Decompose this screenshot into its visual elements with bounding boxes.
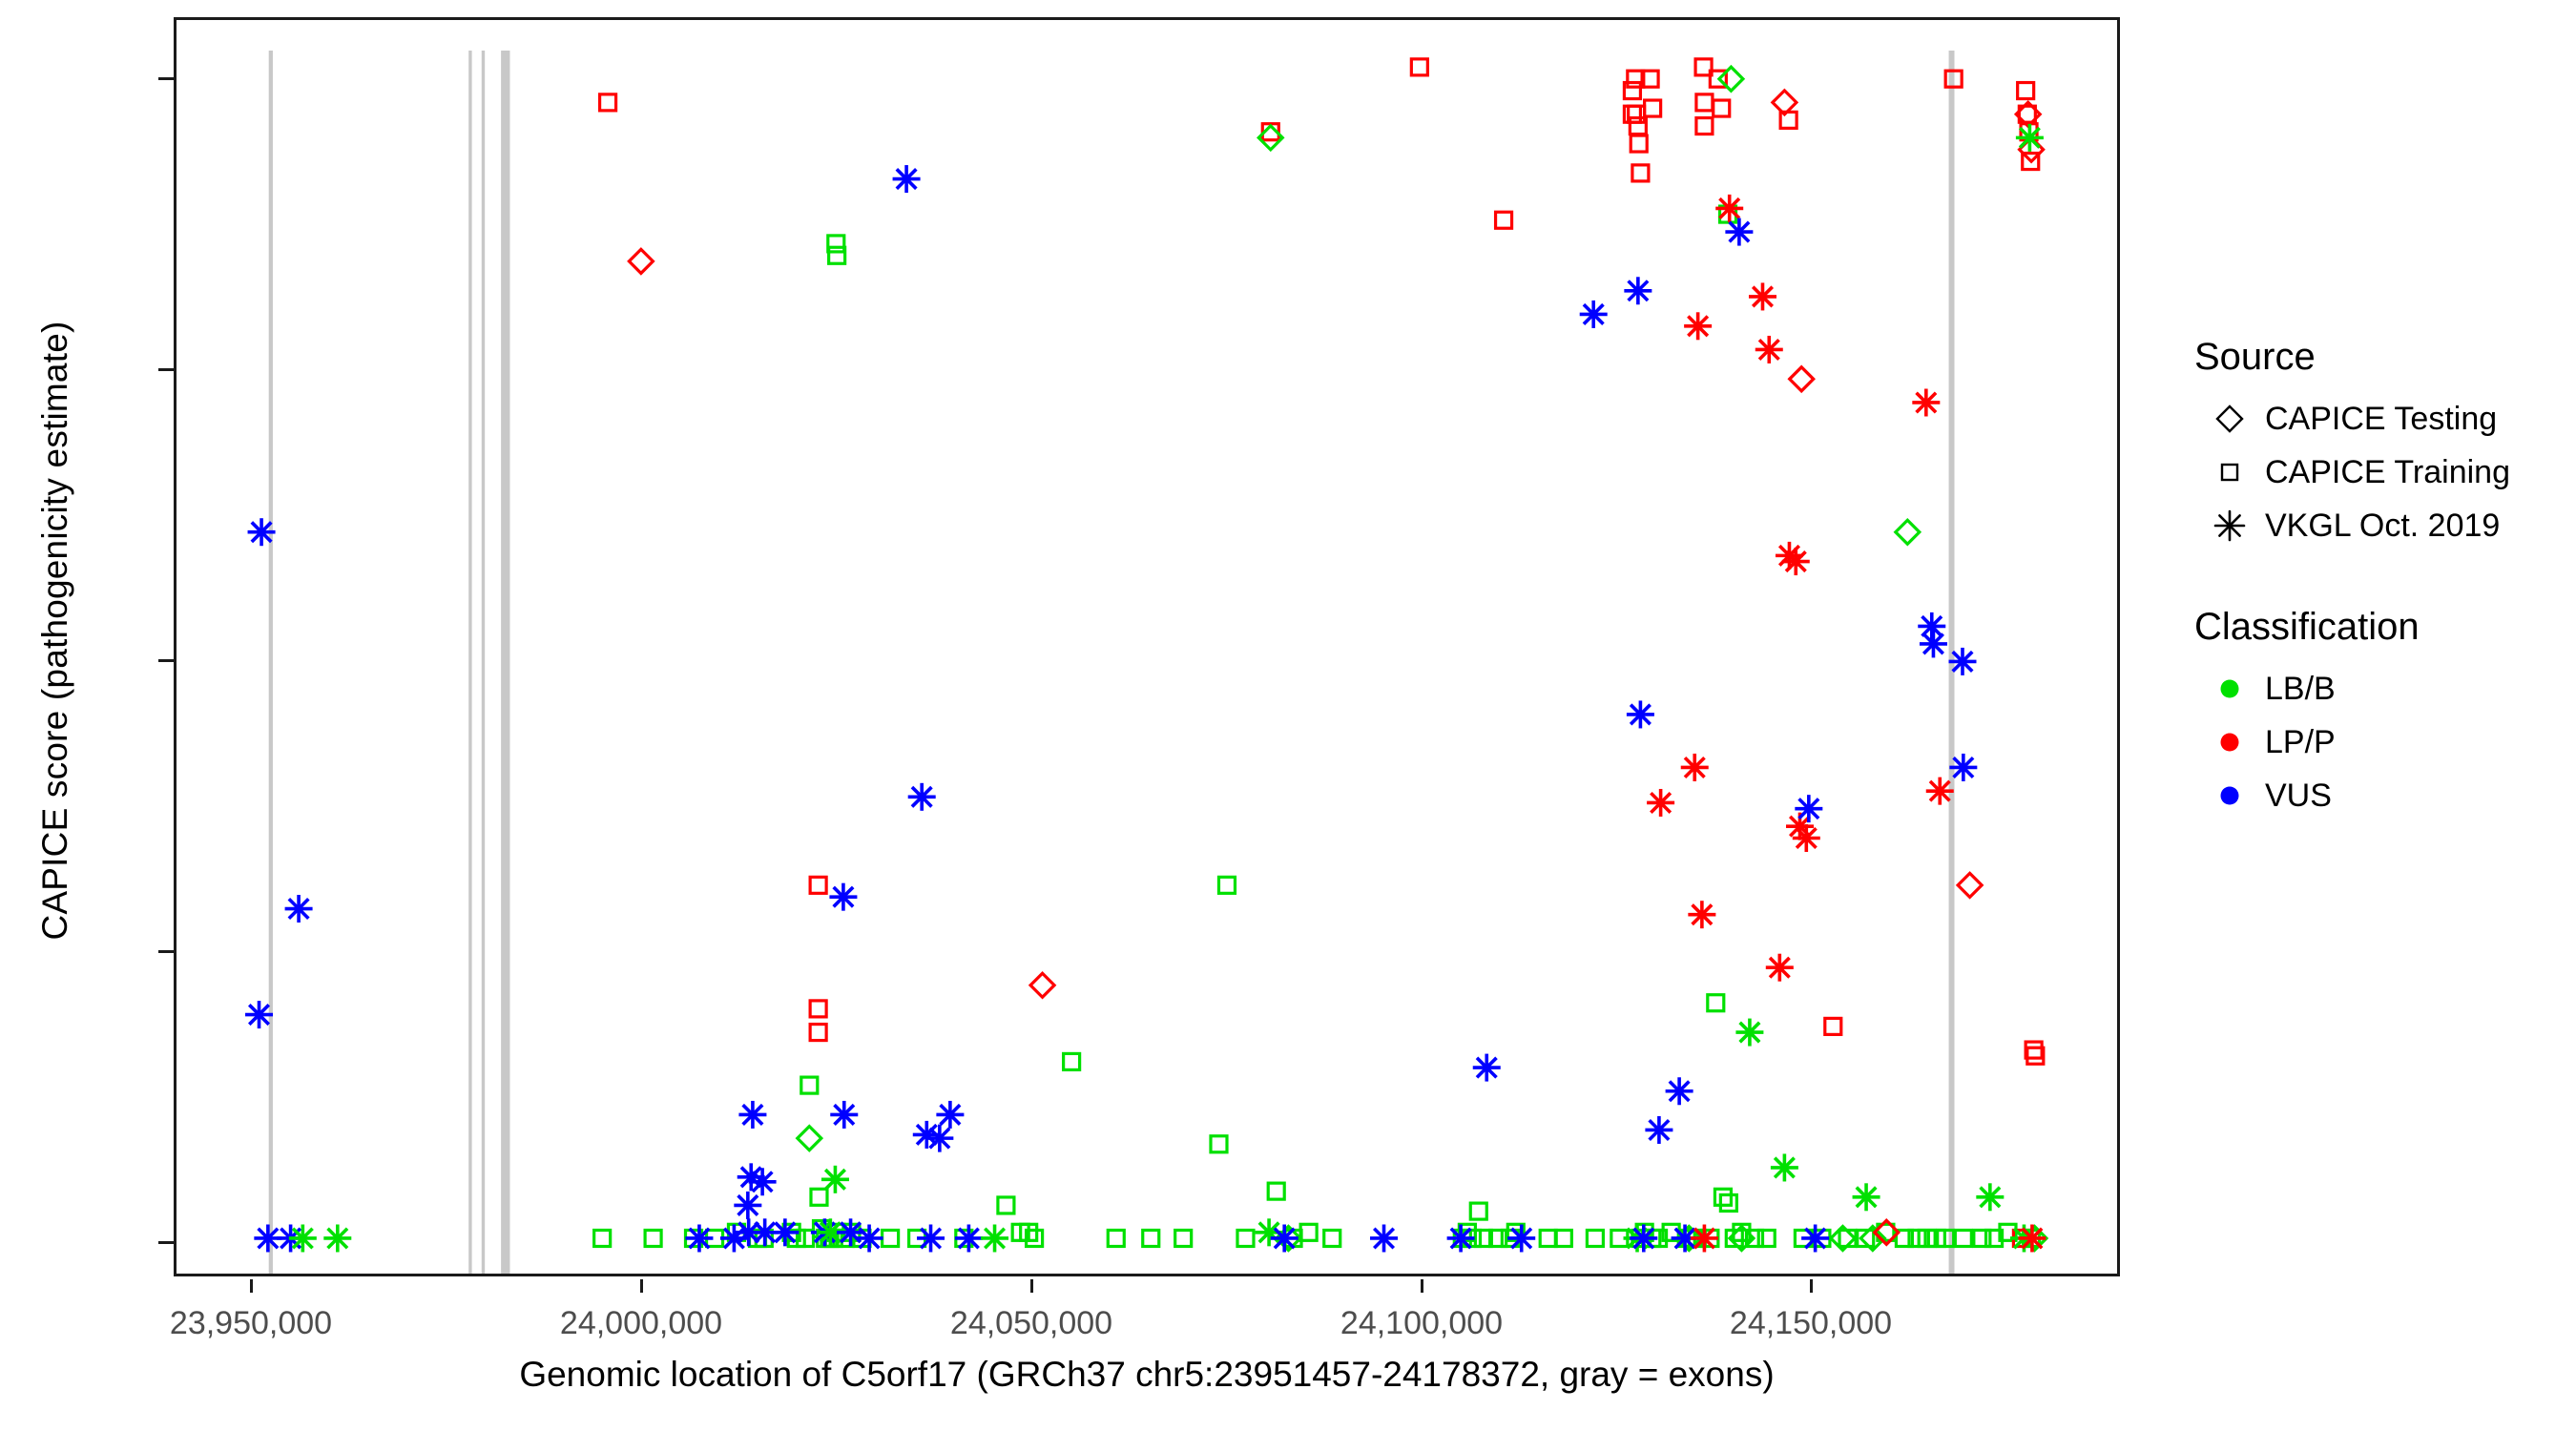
data-point-asterisk-5 bbox=[289, 1224, 317, 1252]
data-point-square-107 bbox=[2018, 83, 2034, 99]
data-point-square-26 bbox=[883, 1230, 899, 1246]
data-point-asterisk-38 bbox=[1624, 277, 1652, 304]
legend-label-lbb: LB/B bbox=[2265, 671, 2336, 708]
data-point-square-49 bbox=[1470, 1203, 1486, 1219]
legend-classification-title: Classification bbox=[2194, 606, 2576, 649]
legend-item-vus[interactable]: VUS bbox=[2194, 769, 2576, 822]
data-point-asterisk-68 bbox=[1948, 648, 1976, 675]
data-point-asterisk-46 bbox=[1681, 754, 1709, 781]
data-point-asterisk-42 bbox=[1645, 1116, 1672, 1144]
data-point-asterisk-64 bbox=[1912, 388, 1940, 416]
x-tick-label-4: 24,150,000 bbox=[1668, 1305, 1954, 1342]
diamond-icon bbox=[2194, 392, 2265, 446]
legend-item-lbb[interactable]: LB/B bbox=[2194, 662, 2576, 715]
data-point-asterisk-2 bbox=[285, 895, 313, 923]
y-tick-mark-0 bbox=[158, 1241, 174, 1244]
data-point-asterisk-24 bbox=[908, 783, 936, 811]
data-point-square-76 bbox=[1696, 94, 1713, 111]
legend-label-lpp: LP/P bbox=[2265, 724, 2336, 761]
data-point-square-2 bbox=[645, 1230, 661, 1246]
data-point-asterisk-55 bbox=[1766, 954, 1794, 982]
data-point-asterisk-61 bbox=[1795, 795, 1822, 822]
x-tick-label-0: 23,950,000 bbox=[108, 1305, 394, 1342]
data-point-square-37 bbox=[1211, 1136, 1227, 1152]
data-point-asterisk-44 bbox=[1666, 1077, 1693, 1105]
data-point-asterisk-69 bbox=[1949, 754, 1977, 781]
exon-band-0 bbox=[269, 51, 273, 1274]
data-point-asterisk-43 bbox=[1647, 789, 1674, 817]
data-point-asterisk-54 bbox=[1755, 336, 1783, 363]
data-point-square-11 bbox=[801, 1077, 818, 1093]
data-point-square-14 bbox=[810, 1025, 826, 1041]
data-point-square-88 bbox=[1758, 1230, 1775, 1246]
data-point-square-70 bbox=[1645, 100, 1661, 116]
data-point-square-82 bbox=[1714, 1189, 1731, 1205]
data-point-diamond-9 bbox=[1790, 367, 1814, 391]
legend-item-capice-training[interactable]: CAPICE Training bbox=[2194, 446, 2576, 499]
data-point-square-79 bbox=[1708, 995, 1724, 1011]
plot-panel bbox=[174, 17, 2120, 1276]
data-point-asterisk-19 bbox=[829, 883, 857, 911]
data-point-asterisk-56 bbox=[1771, 1153, 1798, 1181]
data-point-asterisk-33 bbox=[1370, 1224, 1398, 1252]
legend-classification: Classification LB/B LP/P VUS bbox=[2194, 606, 2576, 822]
data-point-square-56 bbox=[1555, 1230, 1571, 1246]
data-point-asterisk-18 bbox=[821, 1166, 849, 1193]
data-point-asterisk-70 bbox=[1976, 1183, 2004, 1211]
exon-band-1 bbox=[468, 51, 471, 1274]
circle-green-icon bbox=[2194, 662, 2265, 715]
data-point-asterisk-53 bbox=[1749, 282, 1776, 310]
x-tick-label-1: 24,000,000 bbox=[498, 1305, 784, 1342]
data-point-asterisk-52 bbox=[1735, 1019, 1763, 1047]
data-point-asterisk-9 bbox=[738, 1101, 766, 1129]
data-point-asterisk-20 bbox=[830, 1101, 858, 1129]
data-point-square-44 bbox=[1324, 1230, 1340, 1246]
x-tick-label-3: 24,100,000 bbox=[1278, 1305, 1565, 1342]
data-point-square-43 bbox=[1300, 1224, 1317, 1240]
data-point-asterisk-15 bbox=[771, 1218, 799, 1246]
legend-source: Source CAPICE Testing CAPICE Training bbox=[2194, 336, 2576, 552]
data-point-asterisk-14 bbox=[749, 1168, 777, 1195]
data-point-asterisk-34 bbox=[1447, 1224, 1475, 1252]
data-point-asterisk-67 bbox=[1926, 778, 1954, 805]
data-point-asterisk-41 bbox=[1630, 1224, 1657, 1252]
x-tick-label-2: 24,050,000 bbox=[888, 1305, 1174, 1342]
data-point-square-39 bbox=[1237, 1230, 1254, 1246]
y-axis-label: CAPICE score (pathogenicity estimate) bbox=[35, 10, 75, 1251]
data-point-asterisk-73 bbox=[2018, 1224, 2046, 1252]
asterisk-icon bbox=[2194, 499, 2265, 552]
data-point-square-64 bbox=[1631, 135, 1647, 152]
legend-label-vus: VUS bbox=[2265, 778, 2332, 815]
x-tick-mark-0 bbox=[250, 1279, 253, 1293]
data-point-asterisk-28 bbox=[936, 1101, 964, 1129]
x-tick-mark-2 bbox=[1030, 1279, 1033, 1293]
data-point-square-84 bbox=[1720, 1194, 1736, 1211]
y-tick-mark-1 bbox=[158, 950, 174, 953]
y-tick-mark-4 bbox=[158, 77, 174, 80]
data-point-asterisk-0 bbox=[248, 518, 276, 546]
data-point-asterisk-50 bbox=[1715, 195, 1743, 222]
data-point-asterisk-48 bbox=[1688, 901, 1715, 928]
data-point-diamond-13 bbox=[1896, 520, 1920, 544]
square-icon bbox=[2194, 446, 2265, 499]
exon-band-3 bbox=[501, 51, 509, 1274]
data-point-diamond-1 bbox=[798, 1127, 821, 1151]
data-point-diamond-0 bbox=[629, 249, 653, 273]
data-point-asterisk-51 bbox=[1725, 218, 1753, 246]
y-tick-mark-2 bbox=[158, 659, 174, 662]
legend-label-capice-testing: CAPICE Testing bbox=[2265, 401, 2497, 438]
legend-item-lpp[interactable]: LP/P bbox=[2194, 715, 2576, 769]
data-point-asterisk-58 bbox=[1782, 548, 1810, 575]
data-point-asterisk-62 bbox=[1801, 1224, 1829, 1252]
data-point-asterisk-63 bbox=[1853, 1183, 1880, 1211]
data-point-asterisk-29 bbox=[955, 1224, 983, 1252]
x-tick-mark-3 bbox=[1421, 1279, 1423, 1293]
scatter-plot-canvas bbox=[177, 20, 2117, 1274]
data-point-square-98 bbox=[1919, 1230, 1935, 1246]
data-point-square-103 bbox=[1974, 1230, 1990, 1246]
data-point-asterisk-35 bbox=[1473, 1054, 1501, 1082]
data-point-square-21 bbox=[828, 236, 844, 252]
circle-red-icon bbox=[2194, 715, 2265, 769]
data-point-square-77 bbox=[1696, 118, 1713, 135]
data-point-square-15 bbox=[811, 1189, 827, 1205]
data-point-square-92 bbox=[1825, 1018, 1841, 1034]
data-point-asterisk-60 bbox=[1793, 824, 1820, 852]
data-point-square-0 bbox=[600, 94, 616, 111]
data-point-asterisk-23 bbox=[893, 165, 921, 193]
circle-blue-icon bbox=[2194, 769, 2265, 822]
data-point-square-22 bbox=[829, 247, 845, 263]
data-point-square-35 bbox=[1143, 1230, 1159, 1246]
data-point-diamond-14 bbox=[1958, 873, 1982, 897]
data-point-square-60 bbox=[1624, 106, 1640, 122]
exon-band-2 bbox=[482, 51, 485, 1274]
y-tick-mark-3 bbox=[158, 368, 174, 371]
data-point-diamond-2 bbox=[1030, 973, 1054, 997]
data-point-asterisk-11 bbox=[734, 1192, 761, 1219]
data-point-square-102 bbox=[1955, 1230, 1971, 1246]
data-point-asterisk-49 bbox=[1691, 1224, 1718, 1252]
data-point-square-55 bbox=[1540, 1230, 1556, 1246]
data-point-square-34 bbox=[1108, 1230, 1124, 1246]
chart-root: CAPICE score (pathogenicity estimate) 0.… bbox=[0, 0, 2576, 1431]
x-tick-mark-1 bbox=[640, 1279, 643, 1293]
data-point-square-45 bbox=[1411, 59, 1427, 75]
data-point-square-38 bbox=[1218, 877, 1235, 893]
data-point-square-41 bbox=[1268, 1183, 1284, 1199]
legend-source-title: Source bbox=[2194, 336, 2576, 379]
legend-label-capice-training: CAPICE Training bbox=[2265, 454, 2510, 491]
x-tick-mark-4 bbox=[1810, 1279, 1813, 1293]
data-point-asterisk-26 bbox=[917, 1224, 945, 1252]
data-point-square-13 bbox=[810, 1001, 826, 1017]
data-point-asterisk-7 bbox=[685, 1224, 713, 1252]
data-point-asterisk-36 bbox=[1507, 1224, 1535, 1252]
data-point-square-12 bbox=[810, 877, 826, 893]
data-point-square-65 bbox=[1632, 165, 1649, 181]
data-point-asterisk-22 bbox=[856, 1224, 883, 1252]
data-point-square-52 bbox=[1496, 212, 1512, 228]
data-point-asterisk-47 bbox=[1684, 312, 1712, 340]
data-point-asterisk-72 bbox=[2016, 124, 2044, 152]
data-point-asterisk-27 bbox=[925, 1125, 953, 1152]
legend-item-vkgl[interactable]: VKGL Oct. 2019 bbox=[2194, 499, 2576, 552]
data-point-asterisk-32 bbox=[1271, 1224, 1298, 1252]
legend-label-vkgl: VKGL Oct. 2019 bbox=[2265, 508, 2500, 545]
data-point-asterisk-6 bbox=[323, 1224, 351, 1252]
legend-area: Source CAPICE Testing CAPICE Training bbox=[2194, 336, 2576, 876]
x-axis-label: Genomic location of C5orf17 (GRCh37 chr5… bbox=[174, 1355, 2120, 1395]
data-point-square-36 bbox=[1175, 1230, 1192, 1246]
legend-item-capice-testing[interactable]: CAPICE Testing bbox=[2194, 392, 2576, 446]
data-point-square-1 bbox=[594, 1230, 611, 1246]
data-point-asterisk-37 bbox=[1580, 301, 1608, 328]
data-point-square-81 bbox=[1714, 100, 1730, 116]
data-point-asterisk-21 bbox=[837, 1218, 864, 1246]
data-point-square-33 bbox=[1064, 1053, 1080, 1069]
data-point-square-57 bbox=[1587, 1230, 1603, 1246]
data-point-asterisk-30 bbox=[981, 1224, 1008, 1252]
data-point-asterisk-1 bbox=[245, 1001, 273, 1028]
data-point-asterisk-39 bbox=[1627, 700, 1654, 728]
data-point-square-29 bbox=[998, 1197, 1014, 1213]
data-point-asterisk-66 bbox=[1920, 630, 1947, 657]
